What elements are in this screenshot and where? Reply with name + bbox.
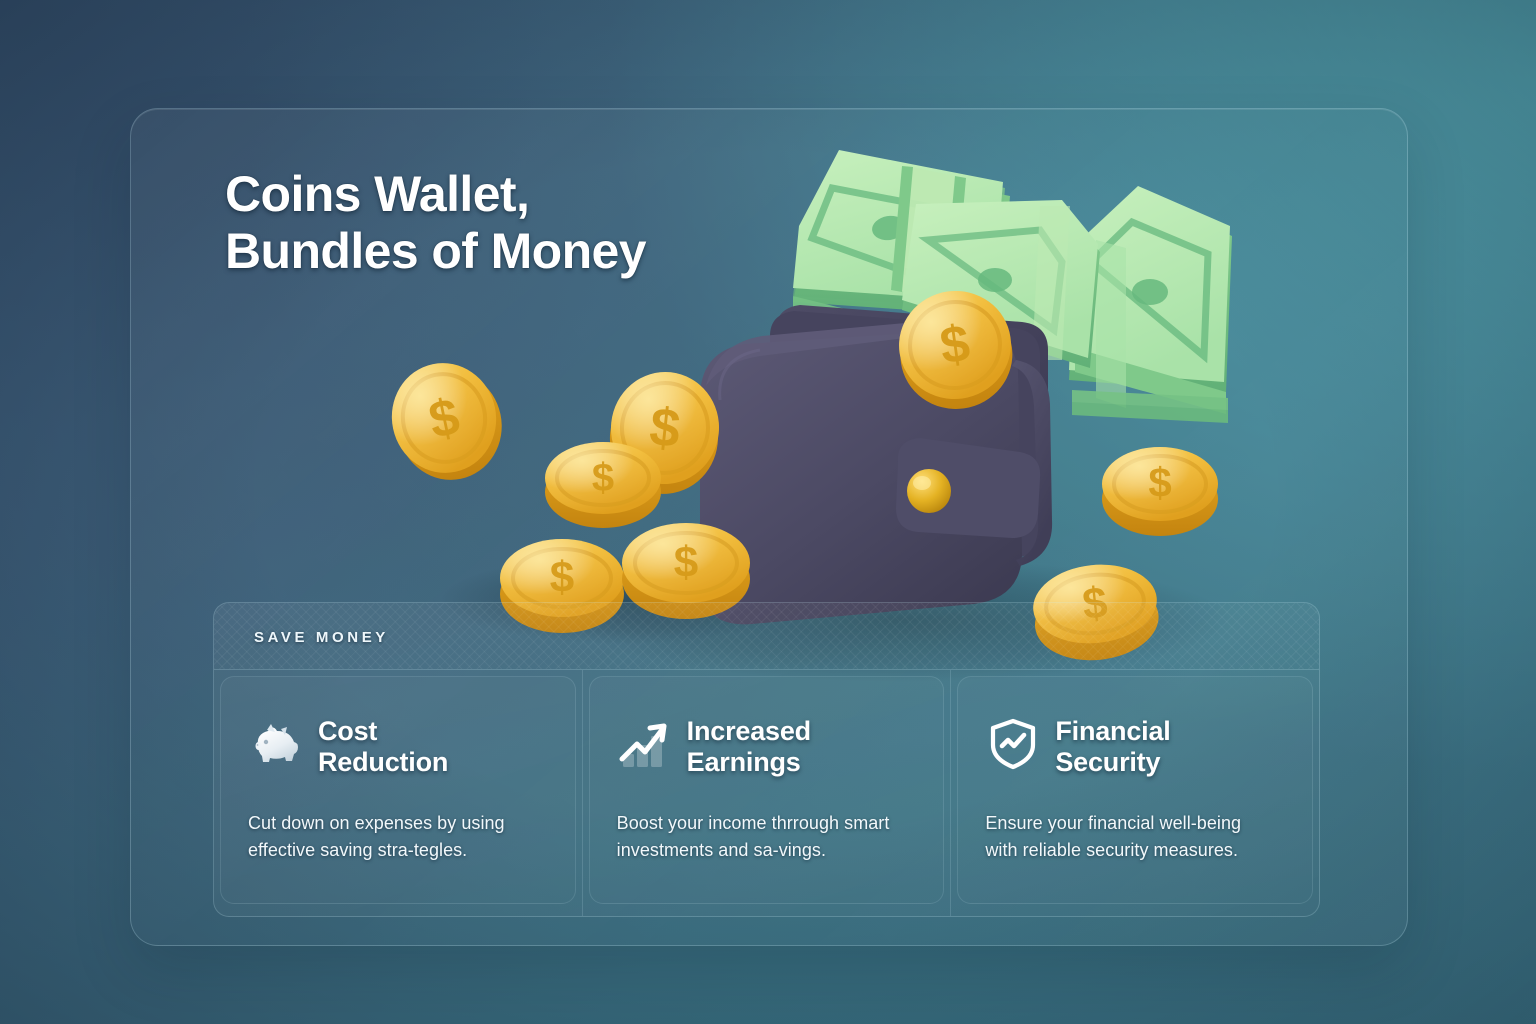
section-kicker: SAVE MONEY bbox=[254, 629, 389, 646]
page-title: Coins Wallet, Bundles of Money bbox=[225, 166, 646, 279]
features-panel: SAVE MONEY bbox=[213, 602, 1320, 917]
card-title: Financial Security bbox=[1055, 714, 1170, 778]
feature-card-financial-security[interactable]: Financial Security Ensure your financial… bbox=[951, 670, 1319, 916]
card-description: Boost your income thrrough smart investm… bbox=[617, 810, 902, 865]
feature-card-list: Cost Reduction Cut down on expenses by u… bbox=[214, 670, 1319, 916]
growth-chart-icon bbox=[617, 716, 673, 772]
card-title: Increased Earnings bbox=[687, 714, 811, 778]
card-header: Financial Security bbox=[985, 714, 1279, 778]
card-surface bbox=[220, 676, 576, 904]
feature-card-cost-reduction[interactable]: Cost Reduction Cut down on expenses by u… bbox=[214, 670, 583, 916]
shield-check-icon bbox=[985, 716, 1041, 772]
card-surface bbox=[589, 676, 945, 904]
card-header: Cost Reduction bbox=[248, 714, 542, 778]
piggy-bank-icon bbox=[248, 716, 304, 772]
card-description: Cut down on expenses by using effective … bbox=[248, 810, 533, 865]
feature-card-increased-earnings[interactable]: Increased Earnings Boost your income thr… bbox=[583, 670, 952, 916]
card-surface bbox=[957, 676, 1313, 904]
card-description: Ensure your financial well-being with re… bbox=[985, 810, 1270, 865]
card-title: Cost Reduction bbox=[318, 714, 448, 778]
card-header: Increased Earnings bbox=[617, 714, 911, 778]
